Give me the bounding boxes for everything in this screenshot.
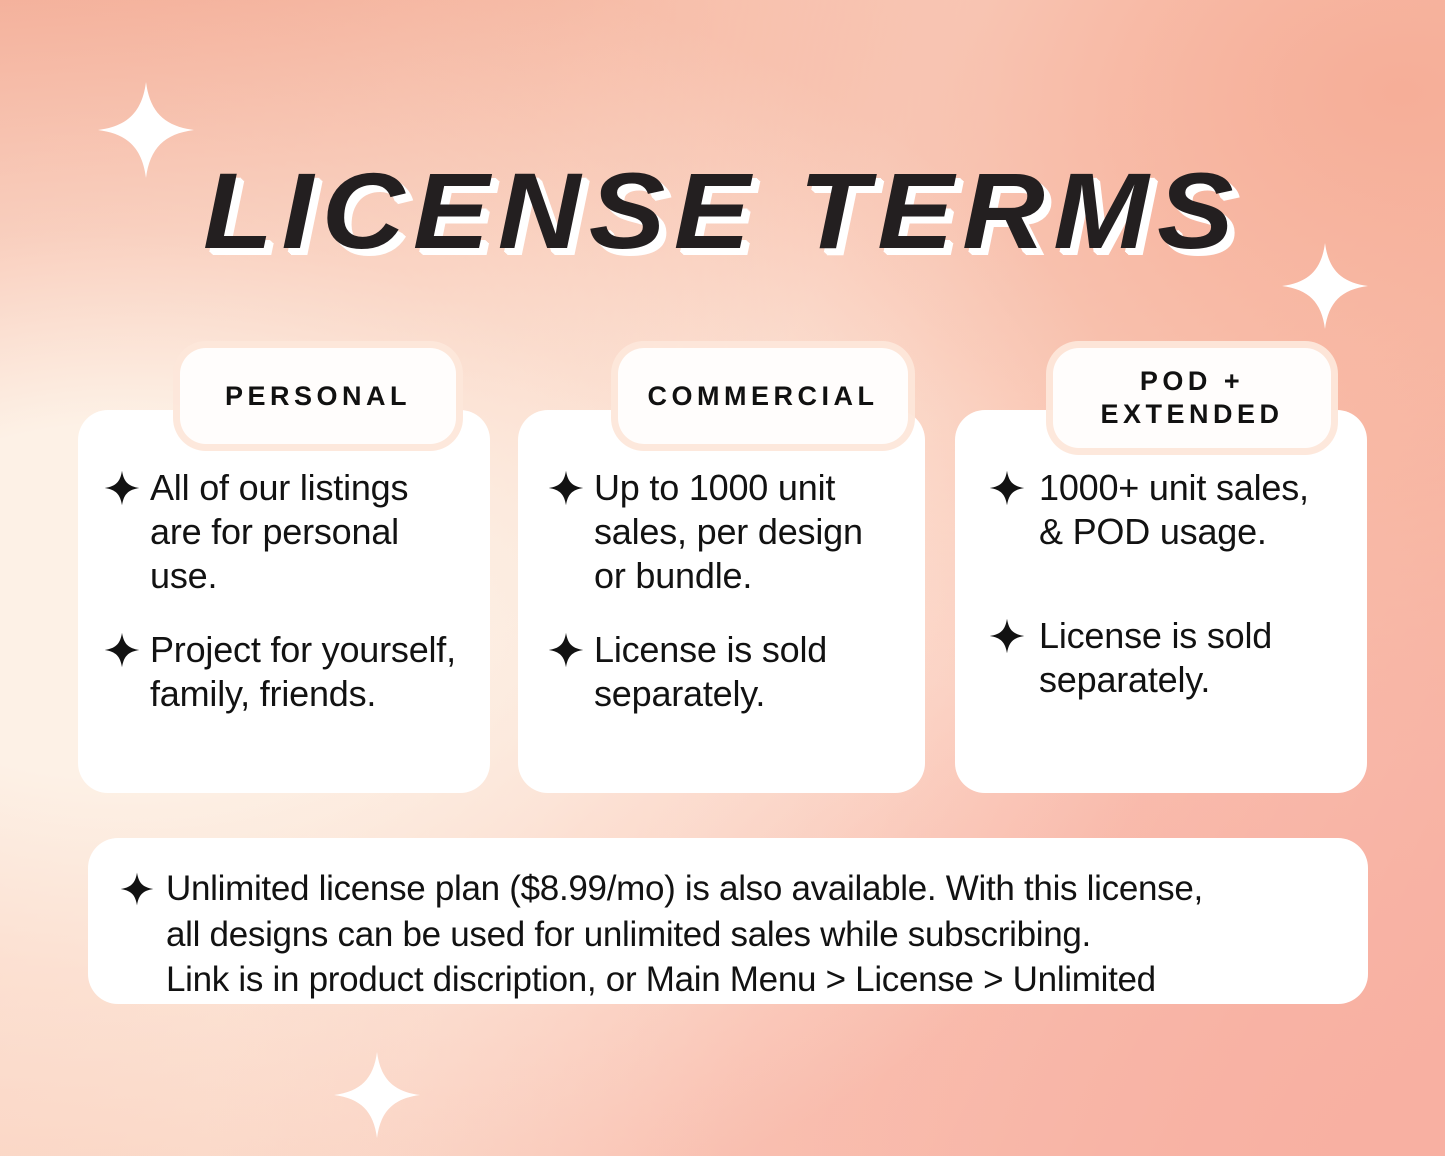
card-tab-label: PERSONAL — [225, 380, 411, 413]
card-tab-label: POD + EXTENDED — [1100, 365, 1283, 431]
list-item: 1000+ unit sales, & POD usage. — [989, 466, 1357, 554]
card-tab-pod-extended[interactable]: POD + EXTENDED — [1053, 348, 1331, 448]
four-point-star-icon — [104, 632, 140, 668]
list-item: All of our listings are for personal use… — [104, 466, 476, 598]
list-item: License is sold separately. — [989, 614, 1357, 702]
list-item: License is sold separately. — [548, 628, 915, 716]
unlimited-plan-banner: Unlimited license plan ($8.99/mo) is als… — [88, 838, 1368, 1004]
four-point-star-icon — [104, 470, 140, 506]
list-item-text: Project for yourself, family, friends. — [150, 628, 456, 716]
banner-inner: Unlimited license plan ($8.99/mo) is als… — [88, 838, 1368, 1003]
card-tab-commercial[interactable]: COMMERCIAL — [618, 348, 908, 444]
license-card-personal: PERSONAL All of our listings are for per… — [78, 348, 490, 793]
card-tab-label: COMMERCIAL — [648, 380, 879, 413]
list-item-text: All of our listings are for personal use… — [150, 466, 408, 598]
card-bullet-list: All of our listings are for personal use… — [78, 466, 490, 746]
list-item-text: License is sold separately. — [1039, 614, 1272, 702]
four-point-star-icon — [548, 470, 584, 506]
license-card-pod-extended: POD + EXTENDED 1000+ unit sales, & POD u… — [955, 348, 1367, 793]
four-point-star-icon — [989, 618, 1025, 654]
list-item: Up to 1000 unit sales, per design or bun… — [548, 466, 915, 598]
four-point-star-icon — [989, 470, 1025, 506]
license-card-commercial: COMMERCIAL Up to 1000 unit sales, per de… — [518, 348, 925, 793]
list-item-text: License is sold separately. — [594, 628, 827, 716]
list-item: Project for yourself, family, friends. — [104, 628, 476, 716]
card-bullet-list: Up to 1000 unit sales, per design or bun… — [518, 466, 925, 746]
card-bullet-list: 1000+ unit sales, & POD usage. License i… — [955, 466, 1367, 732]
list-item-text: 1000+ unit sales, & POD usage. — [1039, 466, 1309, 554]
list-item-text: Up to 1000 unit sales, per design or bun… — [594, 466, 863, 598]
banner-text: Unlimited license plan ($8.99/mo) is als… — [166, 866, 1203, 1003]
card-tab-personal[interactable]: PERSONAL — [180, 348, 456, 444]
four-point-star-icon — [120, 872, 154, 906]
license-terms-graphic: LICENSE TERMS PERSONAL All of our listin… — [0, 0, 1445, 1156]
four-point-star-icon — [548, 632, 584, 668]
